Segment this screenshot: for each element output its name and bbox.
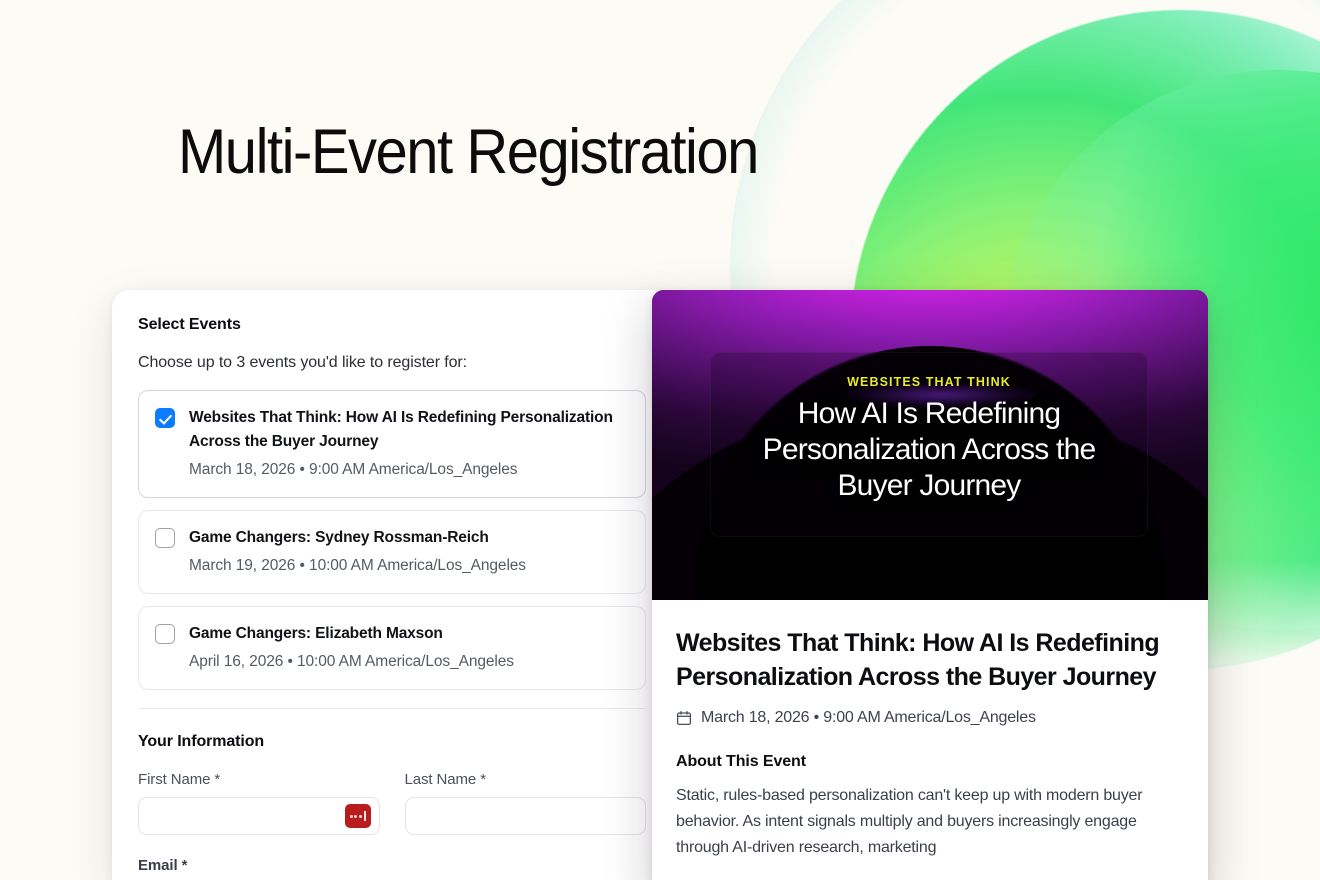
event-checkbox-2[interactable] bbox=[155, 528, 175, 548]
page-title: Multi-Event Registration bbox=[178, 112, 758, 192]
event-detail-card: WEBSITES THAT THINK How AI Is Redefining… bbox=[652, 290, 1208, 880]
event-name-1: Websites That Think: How AI Is Redefinin… bbox=[189, 406, 629, 454]
event-hero-image: WEBSITES THAT THINK How AI Is Redefining… bbox=[652, 290, 1208, 600]
event-name-2: Game Changers: Sydney Rossman-Reich bbox=[189, 526, 629, 550]
event-option-1[interactable]: Websites That Think: How AI Is Redefinin… bbox=[138, 390, 646, 498]
hero-title: How AI Is Redefining Personalization Acr… bbox=[729, 396, 1129, 504]
event-meta-2: March 19, 2026 • 10:00 AM America/Los_An… bbox=[189, 555, 629, 577]
about-this-event-body: Static, rules-based personalization can'… bbox=[676, 783, 1184, 861]
hero-eyebrow: WEBSITES THAT THINK bbox=[729, 375, 1129, 389]
select-events-subtitle: Choose up to 3 events you'd like to regi… bbox=[138, 354, 646, 372]
event-text-2: Game Changers: Sydney Rossman-Reich Marc… bbox=[189, 526, 629, 577]
event-checkbox-1[interactable] bbox=[155, 408, 175, 428]
event-detail-body: Websites That Think: How AI Is Redefinin… bbox=[652, 600, 1208, 861]
event-text-1: Websites That Think: How AI Is Redefinin… bbox=[189, 406, 629, 481]
event-meta-1: March 18, 2026 • 9:00 AM America/Los_Ang… bbox=[189, 459, 629, 481]
last-name-input[interactable] bbox=[405, 797, 647, 835]
calendar-icon bbox=[676, 710, 692, 726]
event-option-2[interactable]: Game Changers: Sydney Rossman-Reich Marc… bbox=[138, 510, 646, 594]
event-text-3: Game Changers: Elizabeth Maxson April 16… bbox=[189, 622, 629, 673]
event-meta-3: April 16, 2026 • 10:00 AM America/Los_An… bbox=[189, 651, 629, 673]
page-root: Multi-Event Registration Select Events C… bbox=[0, 0, 1320, 880]
select-events-heading: Select Events bbox=[138, 316, 646, 334]
event-detail-date-row: March 18, 2026 • 9:00 AM America/Los_Ang… bbox=[676, 709, 1184, 727]
first-name-input[interactable] bbox=[138, 797, 380, 835]
event-list: Websites That Think: How AI Is Redefinin… bbox=[138, 390, 646, 690]
event-checkbox-3[interactable] bbox=[155, 624, 175, 644]
registration-form-card: Select Events Choose up to 3 events you'… bbox=[112, 290, 672, 880]
form-divider bbox=[138, 708, 646, 709]
about-this-event-heading: About This Event bbox=[676, 753, 1184, 771]
event-name-3: Game Changers: Elizabeth Maxson bbox=[189, 622, 629, 646]
first-name-field-group: First Name * bbox=[138, 771, 380, 835]
autofill-icon[interactable] bbox=[345, 804, 371, 828]
event-detail-title: Websites That Think: How AI Is Redefinin… bbox=[676, 626, 1184, 694]
event-detail-date: March 18, 2026 • 9:00 AM America/Los_Ang… bbox=[701, 709, 1036, 727]
last-name-label: Last Name * bbox=[405, 771, 647, 788]
event-option-3[interactable]: Game Changers: Elizabeth Maxson April 16… bbox=[138, 606, 646, 690]
name-field-row: First Name * Last Name * bbox=[138, 771, 646, 835]
your-information-heading: Your Information bbox=[138, 733, 646, 751]
first-name-label: First Name * bbox=[138, 771, 380, 788]
last-name-field-group: Last Name * bbox=[405, 771, 647, 835]
hero-text-panel: WEBSITES THAT THINK How AI Is Redefining… bbox=[710, 352, 1148, 537]
email-label: Email * bbox=[138, 857, 646, 874]
